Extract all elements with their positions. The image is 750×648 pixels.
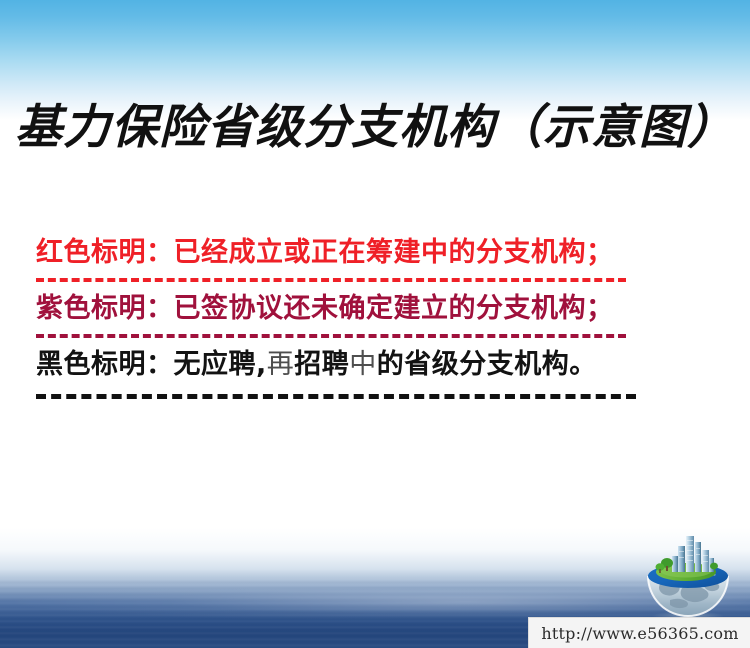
- presentation-slide: 基力保险省级分支机构（示意图） 红色标明：已经成立或正在筹建中的分支机构； 紫色…: [0, 0, 750, 648]
- legend-label-black-segment-4: 中: [349, 349, 377, 380]
- legend-block: 红色标明：已经成立或正在筹建中的分支机构； 紫色标明：已签协议还未确定建立的分支…: [36, 234, 716, 407]
- legend-divider-red: [36, 278, 626, 282]
- legend-label-purple: 紫色标明：已签协议还未确定建立的分支机构；: [36, 290, 716, 328]
- legend-row-red: 红色标明：已经成立或正在筹建中的分支机构；: [36, 234, 716, 282]
- legend-label-black: 黑色标明：无应聘,再招聘中的省级分支机构。: [36, 346, 716, 384]
- legend-label-red: 红色标明：已经成立或正在筹建中的分支机构；: [36, 234, 716, 272]
- page-title: 基力保险省级分支机构（示意图）: [0, 98, 750, 158]
- legend-row-purple: 紫色标明：已签协议还未确定建立的分支机构；: [36, 290, 716, 338]
- legend-row-black: 黑色标明：无应聘,再招聘中的省级分支机构。: [36, 346, 716, 399]
- watermark-url: http://www.e56365.com: [541, 624, 738, 643]
- legend-label-black-segment-3: 招聘: [294, 349, 349, 380]
- globe-city-logo: [636, 524, 740, 622]
- legend-label-purple-text: 紫色标明：已签协议还未确定建立的分支机构；: [36, 293, 614, 324]
- legend-label-red-text: 红色标明：已经成立或正在筹建中的分支机构；: [36, 237, 614, 268]
- legend-label-black-segment-2: 再: [267, 349, 295, 380]
- watermark-bar: http://www.e56365.com: [528, 617, 750, 648]
- logo-city-buildings: [672, 536, 714, 572]
- legend-label-black-segment-5: 的省级分支机构。: [377, 349, 597, 380]
- legend-divider-purple: [36, 334, 626, 338]
- legend-divider-black: [36, 394, 636, 399]
- legend-label-black-segment-1: 黑色标明：无应聘,: [36, 349, 267, 380]
